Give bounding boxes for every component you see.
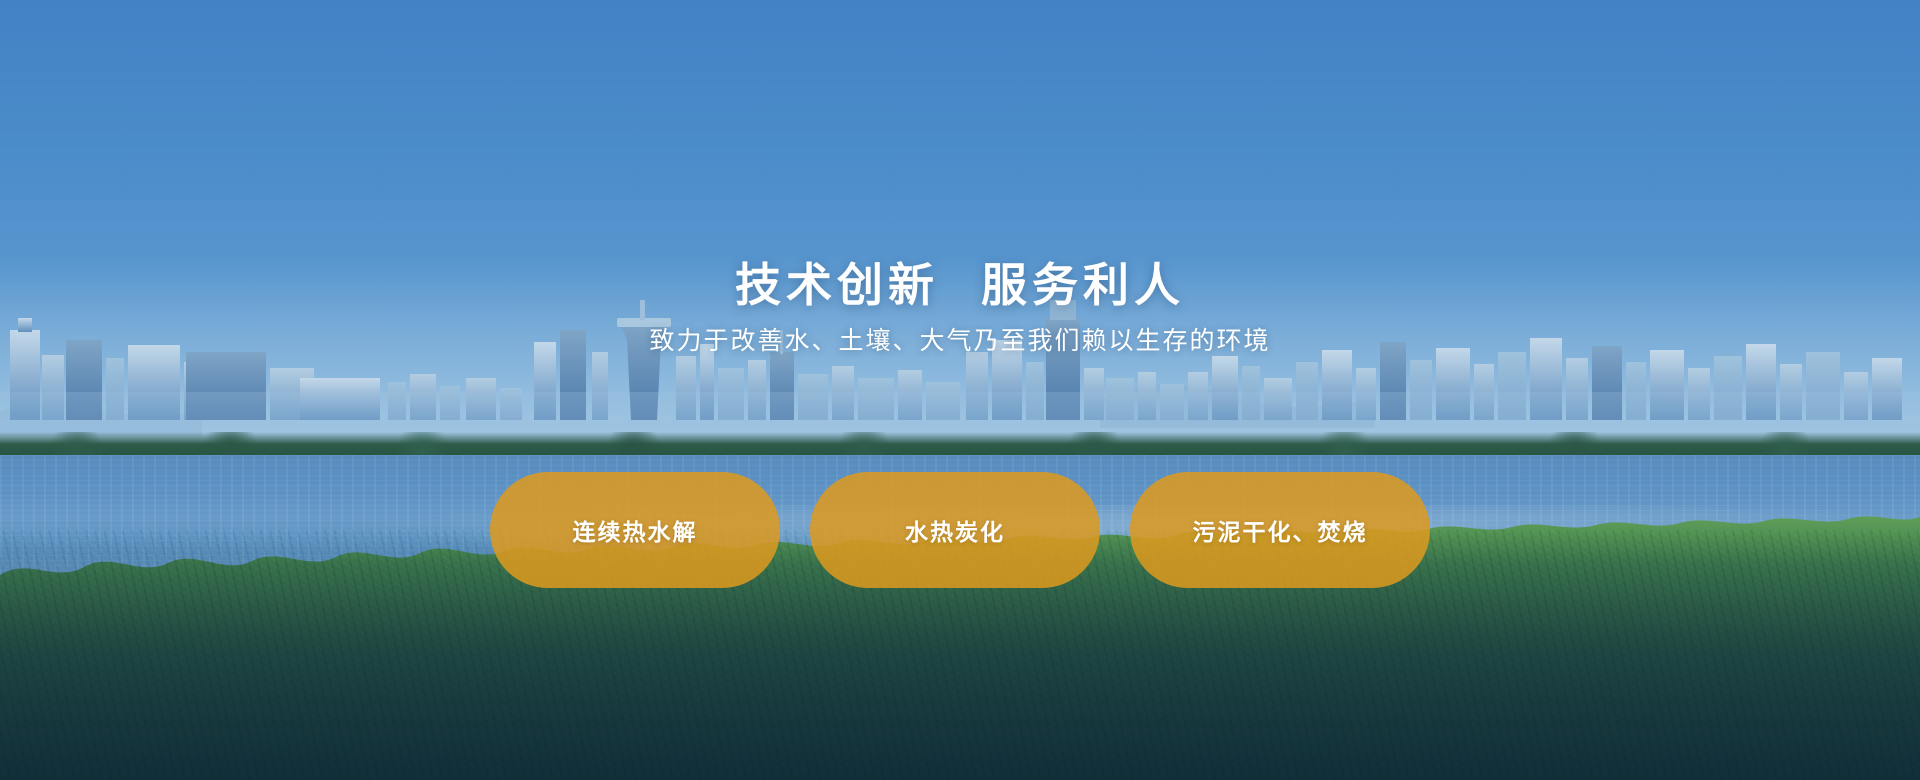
- page-title: 技术创新 服务利人: [0, 258, 1920, 313]
- service-button-hydrothermal-carbonization[interactable]: 水热炭化: [810, 472, 1100, 588]
- page-subtitle: 致力于改善水、土壤、大气乃至我们赖以生存的环境: [0, 325, 1920, 358]
- service-button-row: 连续热水解 水热炭化 污泥干化、焚烧: [0, 472, 1920, 588]
- hero-banner: 技术创新 服务利人 致力于改善水、土壤、大气乃至我们赖以生存的环境 连续热水解 …: [0, 0, 1920, 780]
- hero-text-block: 技术创新 服务利人 致力于改善水、土壤、大气乃至我们赖以生存的环境: [0, 258, 1920, 358]
- service-button-continuous-thermal-hydrolysis[interactable]: 连续热水解: [490, 472, 780, 588]
- service-button-sludge-drying-incineration[interactable]: 污泥干化、焚烧: [1130, 472, 1430, 588]
